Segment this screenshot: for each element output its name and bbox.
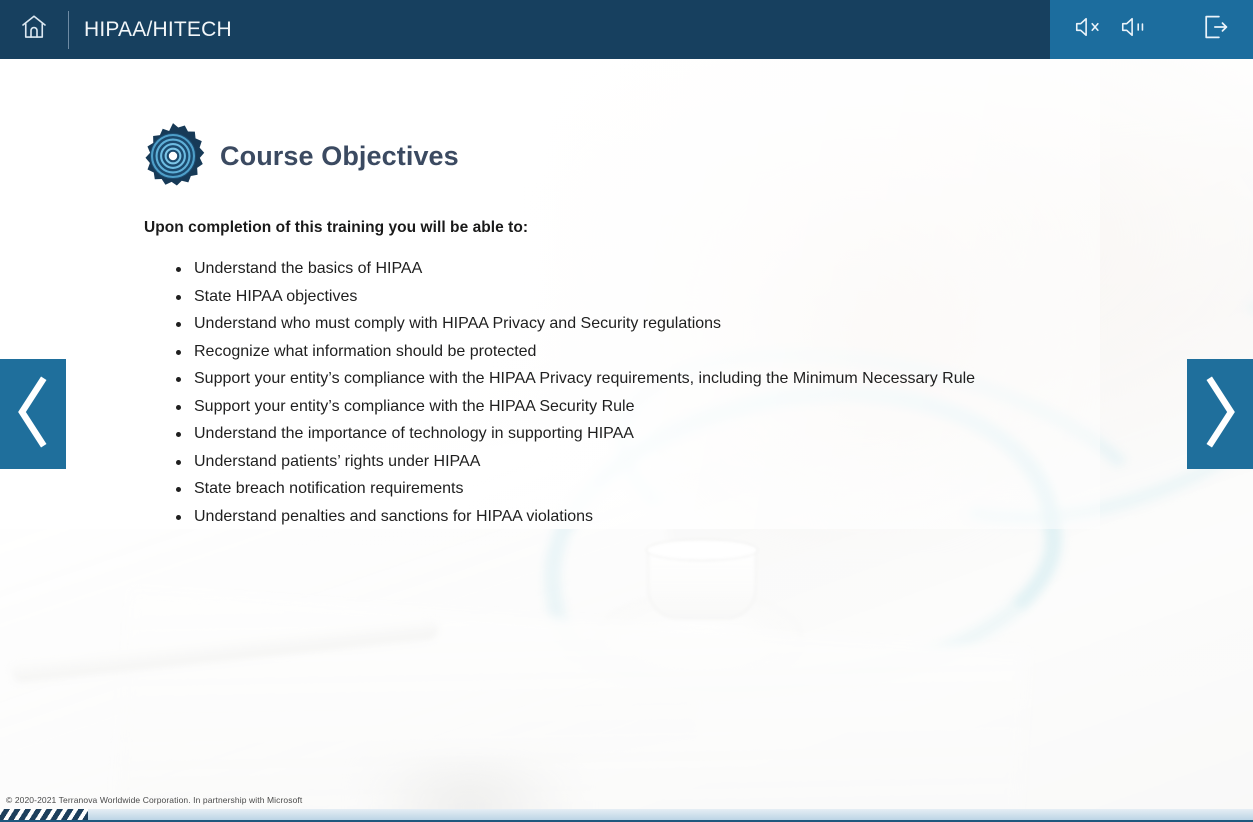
list-item: Support your entity’s compliance with th… (170, 393, 975, 421)
objectives-intro: Upon completion of this training you wil… (144, 219, 528, 237)
app-header: HIPAA/HITECH (0, 0, 1253, 59)
speaker-pause-icon (1119, 13, 1149, 46)
header-left-section: HIPAA/HITECH (0, 0, 1050, 59)
course-title: HIPAA/HITECH (69, 18, 232, 42)
previous-slide-button[interactable] (0, 359, 66, 469)
objectives-list: Understand the basics of HIPAA State HIP… (170, 255, 975, 530)
next-slide-button[interactable] (1187, 359, 1253, 469)
list-item: State HIPAA objectives (170, 283, 975, 311)
list-item: Understand patients’ rights under HIPAA (170, 448, 975, 476)
course-progress-fill (0, 809, 88, 820)
home-button[interactable] (0, 0, 68, 59)
course-slide-app: HIPAA/HITECH (0, 0, 1253, 822)
volume-pause-button[interactable] (1112, 0, 1156, 59)
target-gear-icon (138, 121, 208, 191)
list-item: Understand penalties and sanctions for H… (170, 503, 975, 531)
copyright-notice: © 2020-2021 Terranova Worldwide Corporat… (6, 795, 302, 805)
mute-button[interactable] (1066, 0, 1110, 59)
list-item: Understand the basics of HIPAA (170, 255, 975, 283)
list-item: Understand who must comply with HIPAA Pr… (170, 310, 975, 338)
list-item: Support your entity’s compliance with th… (170, 365, 975, 393)
list-item: State breach notification requirements (170, 475, 975, 503)
exit-icon (1201, 12, 1231, 47)
home-icon (19, 12, 49, 47)
slide-title-row: Course Objectives (138, 121, 459, 191)
course-progress-bar[interactable] (0, 809, 1253, 822)
header-controls-section (1050, 0, 1253, 59)
list-item: Recognize what information should be pro… (170, 338, 975, 366)
exit-button[interactable] (1191, 0, 1241, 59)
chevron-left-icon (11, 373, 55, 456)
chevron-right-icon (1198, 373, 1242, 456)
slide-content: Course Objectives Upon completion of thi… (0, 59, 1253, 789)
speaker-mute-icon (1073, 13, 1103, 46)
list-item: Understand the importance of technology … (170, 420, 975, 448)
page-title: Course Objectives (220, 141, 459, 172)
